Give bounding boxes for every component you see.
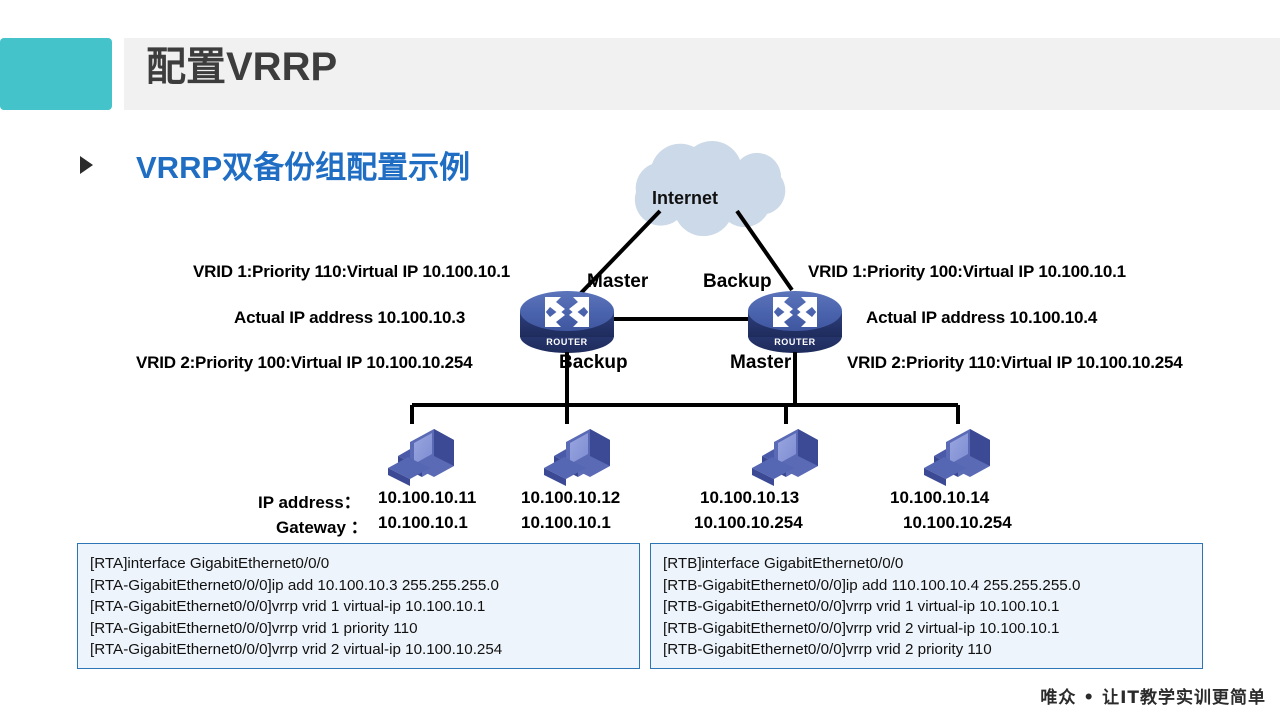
host-1-gateway: 10.100.10.1 — [378, 513, 468, 533]
rtb-vrid2-label: VRID 2:Priority 110:Virtual IP 10.100.10… — [847, 353, 1183, 373]
rtb-uplink-role: Backup — [703, 271, 772, 293]
router-icon-rta: ROUTER — [520, 291, 614, 353]
config-box-rta: [RTA]interface GigabitEthernet0/0/0 [RTA… — [77, 543, 640, 669]
workstation-icon-4 — [924, 429, 990, 486]
config-line: [RTB-GigabitEthernet0/0/0]vrrp vrid 2 pr… — [663, 639, 1192, 661]
config-line: [RTB-GigabitEthernet0/0/0]vrrp vrid 1 vi… — [663, 596, 1192, 618]
config-line: [RTA-GigabitEthernet0/0/0]ip add 10.100.… — [90, 575, 629, 597]
config-line: [RTB]interface GigabitEthernet0/0/0 — [663, 553, 1192, 575]
svg-text:ROUTER: ROUTER — [546, 337, 588, 347]
rta-uplink-role: Master — [587, 271, 648, 293]
host-3-gateway: 10.100.10.254 — [694, 513, 803, 533]
config-line: [RTB-GigabitEthernet0/0/0]vrrp vrid 2 vi… — [663, 618, 1192, 640]
host-4-ip: 10.100.10.14 — [890, 488, 989, 508]
host-2-ip: 10.100.10.12 — [521, 488, 620, 508]
triangle-right-bullet-icon — [80, 156, 93, 174]
workstation-icon-2 — [544, 429, 610, 486]
rta-vrid1-label: VRID 1:Priority 110:Virtual IP 10.100.10… — [193, 262, 510, 282]
page-title: 配置VRRP — [146, 45, 337, 89]
footer-brand: 唯众 • 让IT教学实训更简单 — [1040, 683, 1266, 708]
workstation-icon-1 — [388, 429, 454, 486]
host-2-gateway: 10.100.10.1 — [521, 513, 611, 533]
host-1-ip: 10.100.10.11 — [378, 488, 476, 508]
rtb-downlink-role: Master — [730, 352, 791, 374]
config-line: [RTA-GigabitEthernet0/0/0]vrrp vrid 2 vi… — [90, 639, 629, 661]
rtb-vrid1-label: VRID 1:Priority 100:Virtual IP 10.100.10… — [808, 262, 1126, 282]
workstation-icon-3 — [752, 429, 818, 486]
svg-text:ROUTER: ROUTER — [774, 337, 816, 347]
config-box-rtb: [RTB]interface GigabitEthernet0/0/0 [RTB… — [650, 543, 1203, 669]
rta-vrid2-label: VRID 2:Priority 100:Virtual IP 10.100.10… — [136, 353, 472, 373]
config-line: [RTA]interface GigabitEthernet0/0/0 — [90, 553, 629, 575]
rta-downlink-role: Backup — [559, 352, 628, 374]
rta-actual-ip-label: Actual IP address 10.100.10.3 — [234, 308, 465, 328]
config-line: [RTA-GigabitEthernet0/0/0]vrrp vrid 1 vi… — [90, 596, 629, 618]
subtitle-text: VRRP双备份组配置示例 — [136, 142, 470, 187]
header-accent-block — [0, 38, 112, 110]
config-line: [RTA-GigabitEthernet0/0/0]vrrp vrid 1 pr… — [90, 618, 629, 640]
rtb-actual-ip-label: Actual IP address 10.100.10.4 — [866, 308, 1097, 328]
internet-cloud-label: Internet — [652, 188, 718, 209]
config-line: [RTB-GigabitEthernet0/0/0]ip add 110.100… — [663, 575, 1192, 597]
host-gateway-row-label: Gateway ： — [276, 513, 368, 538]
host-3-ip: 10.100.10.13 — [700, 488, 799, 508]
router-icon-rtb: ROUTER — [748, 291, 842, 353]
host-4-gateway: 10.100.10.254 — [903, 513, 1012, 533]
host-ip-row-label: IP address： — [258, 488, 361, 513]
subtitle-row: VRRP双备份组配置示例 — [80, 142, 470, 187]
